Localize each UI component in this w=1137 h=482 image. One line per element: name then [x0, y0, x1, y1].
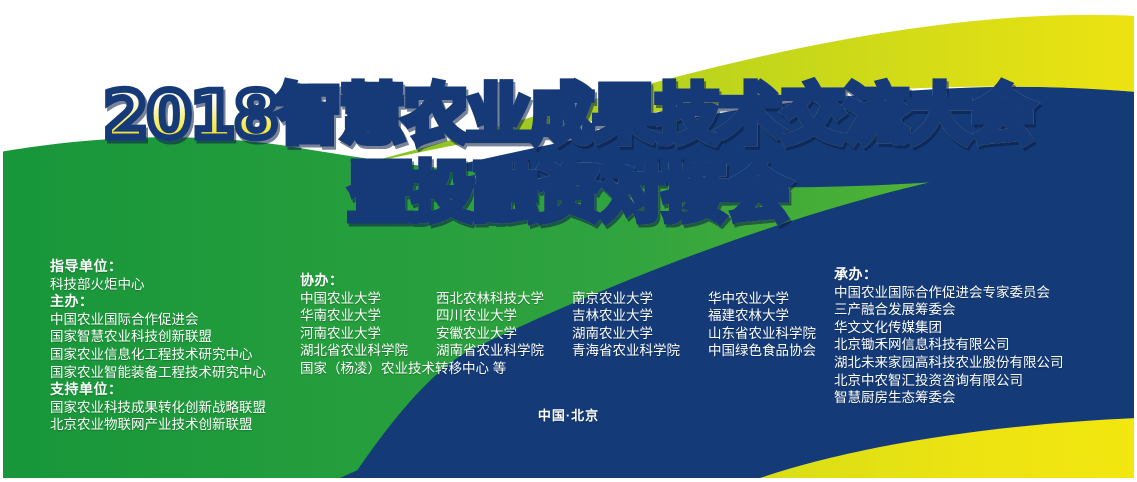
coorganizer-item: 湖南省农业科学院 — [436, 342, 572, 360]
coorganizer-item: 华中农业大学 — [708, 290, 848, 308]
coorganizer-grid: 中国农业大学 西北农林科技大学 南京农业大学 华中农业大学 华南农业大学 四川农… — [300, 290, 848, 378]
guidance-unit-item: 科技部火炬中心 — [50, 276, 266, 294]
background-bottom-edge — [0, 478, 1137, 482]
organizer-column: 承办： 中国农业国际合作促进会专家委员会 三产融合发展筹委会 华文文化传媒集团 … — [834, 266, 1064, 407]
host-label: 主办： — [50, 293, 266, 311]
coorganizer-item: 福建农林大学 — [708, 307, 848, 325]
host-item: 国家农业信息化工程技术研究中心 — [50, 346, 266, 364]
coorganizer-last-line: 国家（杨凌）农业技术转移中心 等 — [300, 360, 708, 378]
coorganizer-item: 青海省农业科学院 — [572, 342, 708, 360]
coorganizer-label: 协办： — [300, 272, 848, 290]
organizer-item: 三产融合发展筹委会 — [834, 301, 1064, 319]
organizer-item: 华文文化传媒集团 — [834, 319, 1064, 337]
organizer-item: 中国农业国际合作促进会专家委员会 — [834, 284, 1064, 302]
coorganizer-item: 吉林农业大学 — [572, 307, 708, 325]
coorganizer-column: 协办： 中国农业大学 西北农林科技大学 南京农业大学 华中农业大学 华南农业大学… — [300, 272, 848, 378]
host-item: 中国农业国际合作促进会 — [50, 311, 266, 329]
organizer-label: 承办： — [834, 266, 1064, 284]
host-item: 国家智慧农业科技创新联盟 — [50, 328, 266, 346]
coorganizer-item: 华南农业大学 — [300, 307, 436, 325]
coorganizer-item: 中国绿色食品协会 — [708, 342, 848, 360]
coorganizer-item: 安徽农业大学 — [436, 325, 572, 343]
coorganizer-item: 湖南农业大学 — [572, 325, 708, 343]
coorganizer-item: 西北农林科技大学 — [436, 290, 572, 308]
support-unit-label: 支持单位： — [50, 381, 266, 399]
coorganizer-item: 山东省农业科学院 — [708, 325, 848, 343]
event-location: 中国·北京 — [0, 405, 1137, 424]
organizer-item: 北京锄禾网信息科技有限公司 — [834, 336, 1064, 354]
organizer-item: 湖北未来家园高科技农业股份有限公司 — [834, 354, 1064, 372]
coorganizer-item: 湖北省农业科学院 — [300, 342, 436, 360]
event-poster: 2018智慧农业成果技术交流大会 暨投融资对接会 指导单位： 科技部火炬中心 主… — [0, 0, 1137, 482]
coorganizer-item: 南京农业大学 — [572, 290, 708, 308]
coorganizer-item: 中国农业大学 — [300, 290, 436, 308]
coorganizer-item: 四川农业大学 — [436, 307, 572, 325]
guidance-unit-label: 指导单位： — [50, 258, 266, 276]
organizer-item: 北京中农智汇投资咨询有限公司 — [834, 372, 1064, 390]
coorganizer-item: 河南农业大学 — [300, 325, 436, 343]
host-item: 国家农业智能装备工程技术研究中心 — [50, 364, 266, 382]
